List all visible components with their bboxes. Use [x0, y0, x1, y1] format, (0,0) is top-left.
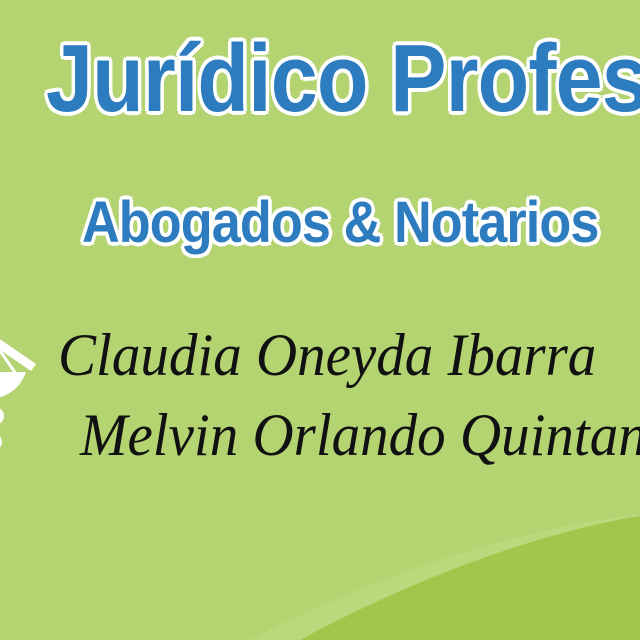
- laurel-leaf: [0, 402, 4, 430]
- page-subtitle: Abogados & Notarios: [82, 190, 599, 256]
- attorney-name: Claudia Oneyda Ibarra: [58, 323, 596, 387]
- scale-beam: [0, 320, 36, 371]
- attorney-name: Melvin Orlando Quintanilla: [80, 403, 640, 467]
- bottom-decoration: [0, 480, 640, 640]
- swoosh-dark-green-shape: [300, 532, 640, 640]
- page-title: Jurídico Profesional: [46, 24, 640, 134]
- laurel-leaf: [0, 428, 2, 456]
- swoosh-light-green-shape: [250, 514, 640, 640]
- swoosh-muted-green-shape: [400, 558, 640, 640]
- swoosh-highlight-shape: [300, 516, 640, 640]
- scale-pan: [0, 372, 26, 398]
- law-firm-banner: Jurídico Profesional Abogados & Notarios…: [0, 0, 640, 640]
